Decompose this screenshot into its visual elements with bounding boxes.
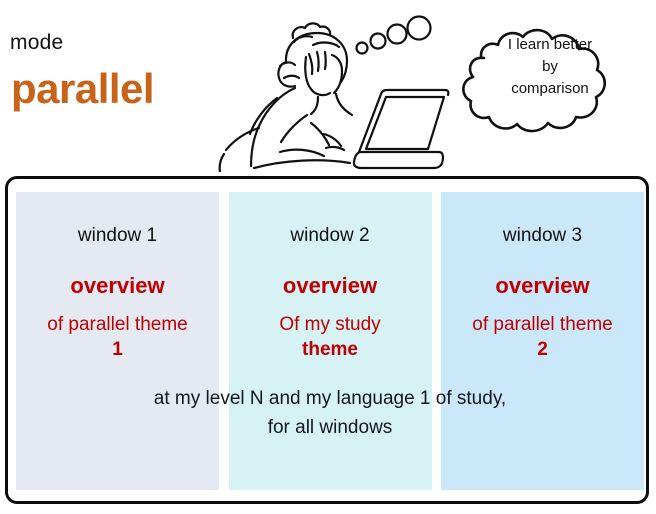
window-panels: window 1 overview of parallel theme 1 wi… bbox=[16, 192, 644, 490]
window-3-heading: overview bbox=[441, 272, 644, 299]
window-1-sub-line1: of parallel theme bbox=[47, 314, 187, 335]
window-panel-2[interactable]: window 2 overview Of my study theme bbox=[229, 192, 432, 490]
mode-label: mode bbox=[10, 30, 63, 56]
window-3-sub-line1: of parallel theme bbox=[472, 314, 612, 335]
window-panel-1[interactable]: window 1 overview of parallel theme 1 bbox=[16, 192, 219, 490]
person-at-laptop-thinking-icon bbox=[214, 2, 454, 172]
window-2-sub-line1: Of my study bbox=[279, 314, 380, 335]
window-panel-3[interactable]: window 3 overview of parallel theme 2 bbox=[441, 192, 644, 490]
window-3-sub-line2: 2 bbox=[441, 337, 644, 362]
thought-line-2: by bbox=[470, 56, 630, 78]
window-3-title: window 3 bbox=[441, 224, 644, 248]
mode-value: parallel bbox=[11, 64, 154, 114]
thought-line-1: I learn better bbox=[470, 34, 630, 56]
thought-line-3: comparison bbox=[470, 78, 630, 100]
window-2-title: window 2 bbox=[229, 224, 432, 248]
window-3-subtitle: of parallel theme 2 bbox=[441, 312, 644, 362]
window-1-title: window 1 bbox=[16, 224, 219, 248]
window-2-sub-line2: theme bbox=[229, 337, 432, 362]
window-1-sub-line2: 1 bbox=[16, 337, 219, 362]
window-2-heading: overview bbox=[229, 272, 432, 299]
header: mode parallel bbox=[0, 0, 656, 175]
window-1-subtitle: of parallel theme 1 bbox=[16, 312, 219, 362]
thought-bubble-text: I learn better by comparison bbox=[470, 34, 630, 100]
window-1-heading: overview bbox=[16, 272, 219, 299]
window-2-subtitle: Of my study theme bbox=[229, 312, 432, 362]
windows-card: window 1 overview of parallel theme 1 wi… bbox=[5, 176, 649, 504]
